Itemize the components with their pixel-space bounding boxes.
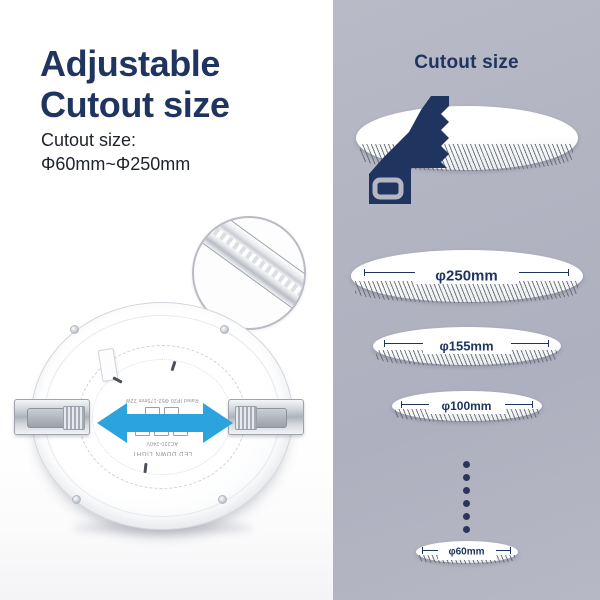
disc-item: φ250mm: [351, 250, 583, 302]
adjustable-range-arrow-icon: [97, 401, 233, 445]
ellipsis-dot: [463, 474, 470, 481]
screw-icon: [72, 495, 81, 504]
label-bottom-text: LED DOWN LIGHT: [94, 447, 230, 457]
hand-saw-icon: [333, 96, 600, 208]
product-image: LED DOWN LIGHT AC220-240V Rated IP20 Φ52…: [31, 302, 299, 530]
ellipsis-dot: [463, 500, 470, 507]
disc-item: φ60mm: [416, 541, 518, 563]
spring-clip-right: [228, 399, 304, 435]
clip-coil-left: [63, 406, 85, 430]
cutout-size-subtitle: Cutout size: Φ60mm~Φ250mm: [41, 129, 311, 177]
right-panel-title: Cutout size: [333, 52, 600, 74]
disc-item: φ155mm: [373, 327, 561, 365]
size-range-ellipsis: [333, 455, 600, 539]
disc-item: φ100mm: [392, 391, 542, 421]
ellipsis-dot: [463, 513, 470, 520]
ellipsis-dot: [463, 526, 470, 533]
subtitle-line-2: Φ60mm~Φ250mm: [41, 153, 311, 177]
spring-clip-left: [14, 399, 90, 435]
saw-illustration: [333, 96, 600, 208]
disc-size-label: φ100mm: [392, 399, 542, 413]
subtitle-line-1: Cutout size:: [41, 130, 136, 150]
disc-size-label: φ155mm: [373, 339, 561, 354]
product-infographic: Adjustable Cutout size Cutout size: Φ60m…: [0, 0, 600, 600]
clip-coil-right: [235, 406, 257, 430]
disc-size-label: φ250mm: [351, 268, 583, 285]
disc-size-label: φ60mm: [416, 547, 518, 558]
left-panel: Adjustable Cutout size Cutout size: Φ60m…: [0, 0, 333, 600]
downlight-body: LED DOWN LIGHT AC220-240V Rated IP20 Φ52…: [31, 302, 293, 530]
ellipsis-dot: [463, 461, 470, 468]
title-line-2: Cutout size: [40, 85, 320, 126]
screw-icon: [220, 325, 229, 334]
ellipsis-dot: [463, 487, 470, 494]
page-title: Adjustable Cutout size: [40, 44, 320, 125]
screw-icon: [70, 325, 79, 334]
screw-icon: [218, 495, 227, 504]
title-line-1: Adjustable: [40, 43, 220, 84]
right-panel: Cutout size φ250mm: [333, 0, 600, 600]
